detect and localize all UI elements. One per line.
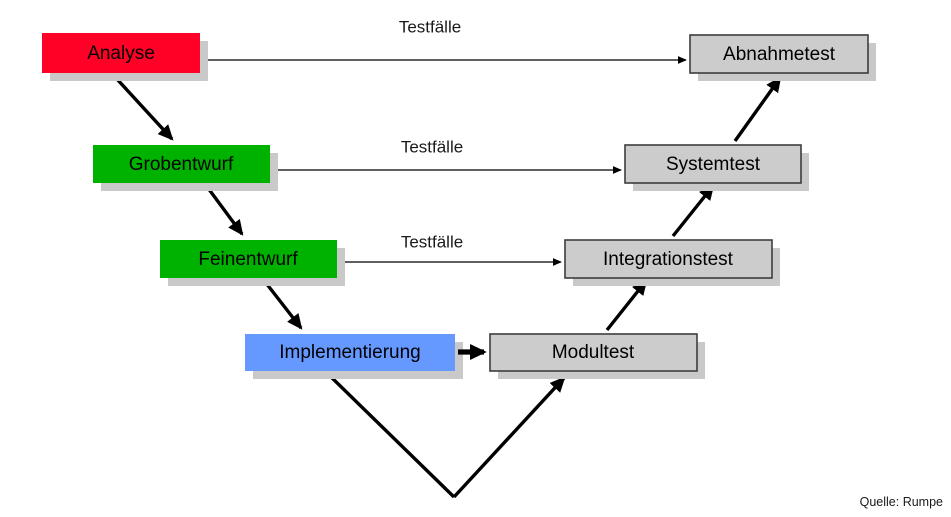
right-branch-nodes: Abnahmetest Systemtest Integrationstest … [490, 35, 876, 379]
node-modultest-label: Modultest [552, 342, 635, 363]
node-implementierung-label: Implementierung [279, 342, 421, 363]
node-integrationstest-label: Integrationstest [603, 249, 734, 270]
node-analyse[interactable]: Analyse [42, 33, 208, 81]
node-grobentwurf-label: Grobentwurf [129, 154, 234, 175]
left-branch-nodes: Analyse Grobentwurf Feinentwurf Implemen… [42, 33, 463, 379]
source-note: Quelle: Rumpe [860, 495, 943, 509]
edge-grobentwurf-feinentwurf [208, 188, 242, 234]
diagram-canvas: Testfälle Testfälle Testfälle [0, 0, 951, 517]
edge-integrationstest-systemtest [673, 186, 713, 236]
validation-v-edge [328, 374, 564, 497]
left-flow-edges-group [116, 78, 301, 328]
node-systemtest-label: Systemtest [666, 154, 761, 175]
edge-modultest-integrationstest [607, 281, 646, 330]
node-implementierung[interactable]: Implementierung [245, 334, 463, 379]
edge-systemtest-abnahmetest [735, 78, 780, 141]
edge-feinentwurf-implementierung [266, 283, 301, 328]
node-modultest[interactable]: Modultest [490, 334, 705, 379]
validation-edge-down-segment [328, 374, 454, 497]
edge-feinentwurf-integrationstest: Testfälle [337, 232, 561, 262]
node-abnahmetest-label: Abnahmetest [723, 44, 836, 65]
node-systemtest[interactable]: Systemtest [625, 145, 809, 191]
edge-analyse-grobentwurf [116, 78, 172, 139]
right-flow-edges-group [607, 78, 780, 330]
v-model-diagram: Testfälle Testfälle Testfälle [0, 0, 951, 517]
edge-label-testfaelle-acceptance: Testfälle [399, 17, 461, 36]
validation-edge-up-segment [454, 378, 564, 497]
node-analyse-label: Analyse [87, 43, 155, 64]
edge-analyse-abnahmetest: Testfälle [200, 17, 686, 60]
edge-grobentwurf-systemtest: Testfälle [270, 137, 621, 170]
edge-label-testfaelle-integration: Testfälle [401, 232, 463, 251]
node-abnahmetest[interactable]: Abnahmetest [690, 35, 876, 81]
horizontal-edges-group: Testfälle Testfälle Testfälle [200, 17, 686, 262]
node-feinentwurf-label: Feinentwurf [198, 249, 298, 270]
node-integrationstest[interactable]: Integrationstest [565, 240, 780, 286]
node-grobentwurf[interactable]: Grobentwurf [93, 145, 278, 191]
edge-label-testfaelle-system: Testfälle [401, 137, 463, 156]
node-feinentwurf[interactable]: Feinentwurf [160, 240, 345, 286]
